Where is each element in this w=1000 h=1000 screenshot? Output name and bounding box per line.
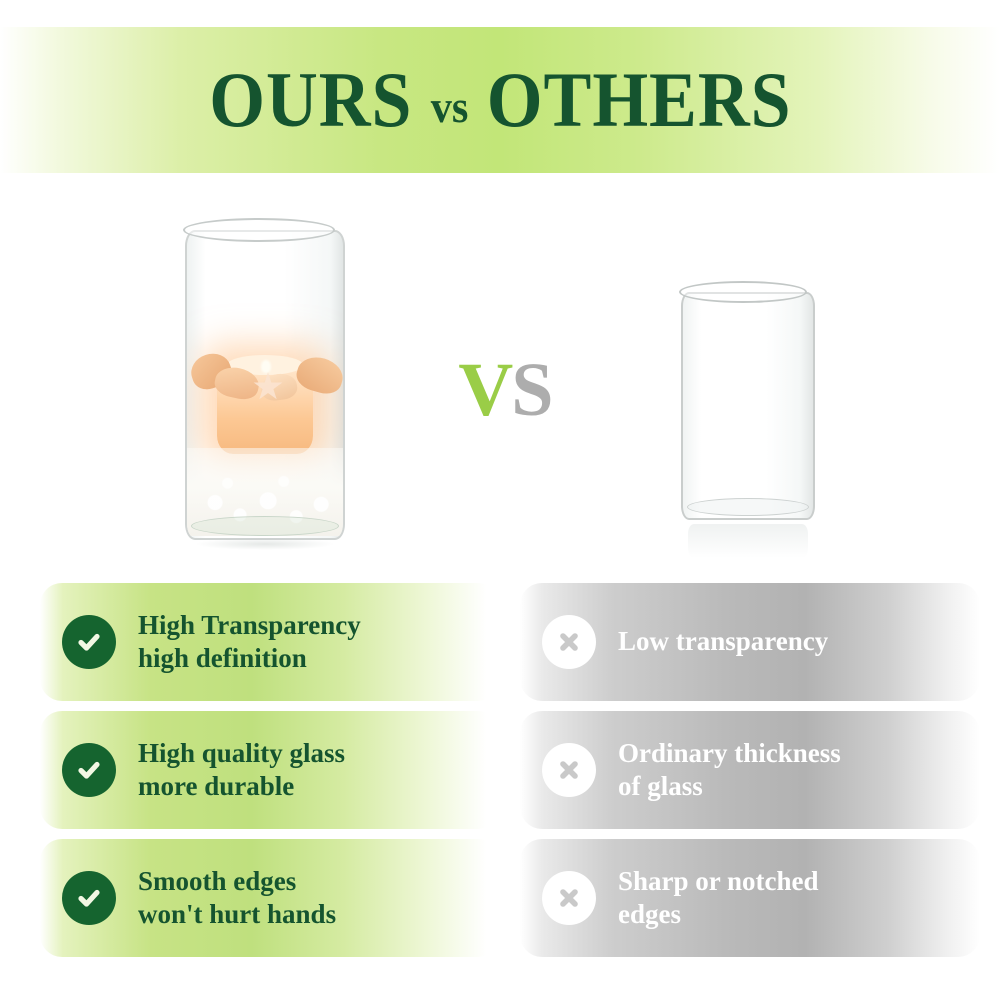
vase-base bbox=[191, 516, 339, 536]
cross-icon bbox=[542, 615, 596, 669]
cross-icon bbox=[542, 871, 596, 925]
ours-feature-label: High Transparency high definition bbox=[138, 609, 361, 676]
ours-feature-card: High quality glass more durable bbox=[40, 711, 500, 829]
check-icon bbox=[62, 615, 116, 669]
others-feature-label: Ordinary thickness of glass bbox=[618, 737, 841, 804]
check-icon bbox=[62, 871, 116, 925]
ours-feature-list: High Transparency high definition High q… bbox=[40, 583, 500, 967]
ours-product-image bbox=[181, 216, 349, 546]
candle-flame-icon bbox=[261, 360, 271, 373]
others-feature-card: Low transparency bbox=[520, 583, 980, 701]
title-vs: vs bbox=[430, 84, 468, 130]
others-feature-card: Sharp or notched edges bbox=[520, 839, 980, 957]
glass-reflection bbox=[688, 524, 808, 558]
page-title: OURS vs OTHERS bbox=[209, 61, 791, 139]
ours-feature-card: High Transparency high definition bbox=[40, 583, 500, 701]
others-feature-list: Low transparency Ordinary thickness of g… bbox=[520, 583, 980, 967]
glass-base bbox=[687, 498, 809, 516]
cross-icon bbox=[542, 743, 596, 797]
others-feature-label: Sharp or notched edges bbox=[618, 865, 819, 932]
ours-feature-label: High quality glass more durable bbox=[138, 737, 345, 804]
title-others: OTHERS bbox=[486, 61, 791, 139]
ours-feature-label: Smooth edges won't hurt hands bbox=[138, 865, 336, 932]
others-feature-card: Ordinary thickness of glass bbox=[520, 711, 980, 829]
vs-letter-s: S bbox=[511, 348, 551, 432]
ours-feature-card: Smooth edges won't hurt hands bbox=[40, 839, 500, 957]
glass-rim bbox=[679, 281, 807, 303]
hurricane-vase-glass bbox=[185, 230, 345, 540]
vase-shadow bbox=[195, 538, 335, 550]
feature-comparison-lists: High Transparency high definition High q… bbox=[0, 583, 1000, 963]
product-comparison-row: VS bbox=[0, 180, 1000, 570]
vase-rim bbox=[183, 218, 335, 242]
check-icon bbox=[62, 743, 116, 797]
plain-glass-cylinder bbox=[681, 292, 815, 520]
others-feature-label: Low transparency bbox=[618, 625, 828, 658]
title-ours: OURS bbox=[209, 61, 412, 139]
others-product-image bbox=[678, 280, 818, 530]
vs-letter-v: V bbox=[458, 348, 511, 432]
vs-badge: VS bbox=[440, 352, 570, 428]
header-banner: OURS vs OTHERS bbox=[0, 27, 1000, 173]
